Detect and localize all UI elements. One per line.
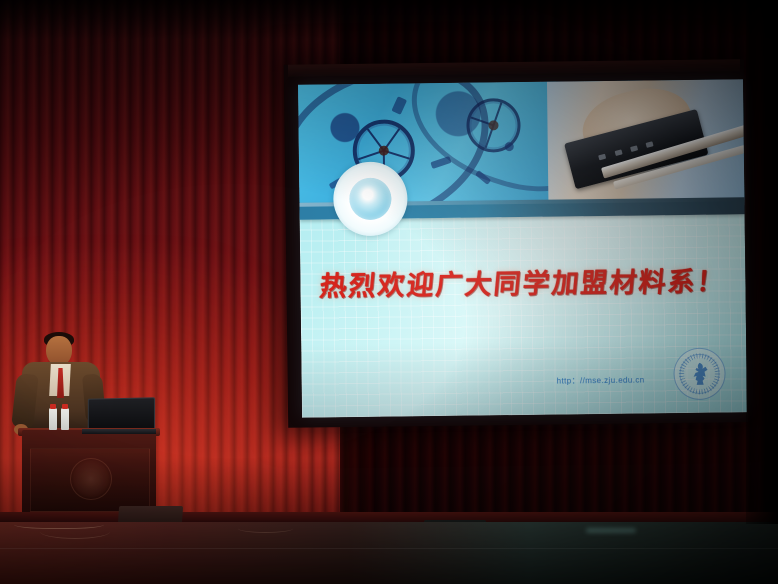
- banner-hand-photo: [547, 79, 744, 205]
- floor-light-spill: [586, 528, 636, 533]
- slide-url-text: http：//mse.zju.edu.cn: [557, 375, 645, 387]
- water-bottle: [61, 408, 69, 430]
- lecture-hall-photo: 热烈欢迎广大同学加盟材料系！ http：//mse.zju.edu.cn: [0, 0, 778, 584]
- presenter-laptop-base: [82, 429, 156, 434]
- presenter-at-podium: [8, 330, 168, 530]
- stage-floor-line: [0, 548, 778, 549]
- stage-cables: [40, 524, 110, 539]
- right-wall-shadow: [746, 0, 778, 524]
- water-bottle: [49, 408, 57, 430]
- slide-headline: 热烈欢迎广大同学加盟材料系！: [299, 259, 747, 303]
- projected-slide: 热烈欢迎广大同学加盟材料系！ http：//mse.zju.edu.cn: [298, 79, 747, 417]
- stage-cables: [238, 524, 293, 533]
- stage-floor-sheen: [0, 522, 778, 584]
- podium-emblem: [70, 458, 112, 500]
- ceiling-shadow: [0, 0, 778, 40]
- sphere-core: [349, 178, 392, 221]
- seal-figure-icon: [688, 361, 710, 387]
